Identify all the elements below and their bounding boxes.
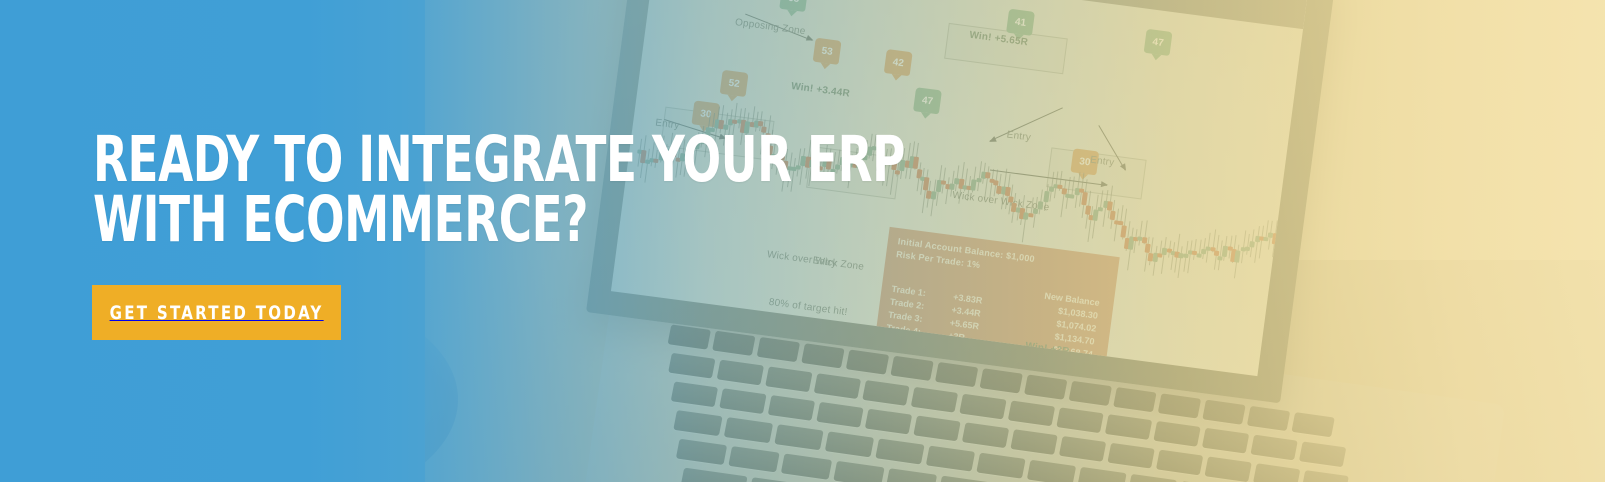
page-title: Ready to integrate your ERP with ecommer… (93, 130, 905, 250)
get-started-button[interactable]: Get Started Today (92, 285, 341, 340)
banner-content: Ready to integrate your ERP with ecommer… (0, 0, 1605, 482)
get-started-button-label: Get Started Today (109, 302, 323, 324)
cta-banner: 0% moving below level Initial Account Ba… (0, 0, 1605, 482)
